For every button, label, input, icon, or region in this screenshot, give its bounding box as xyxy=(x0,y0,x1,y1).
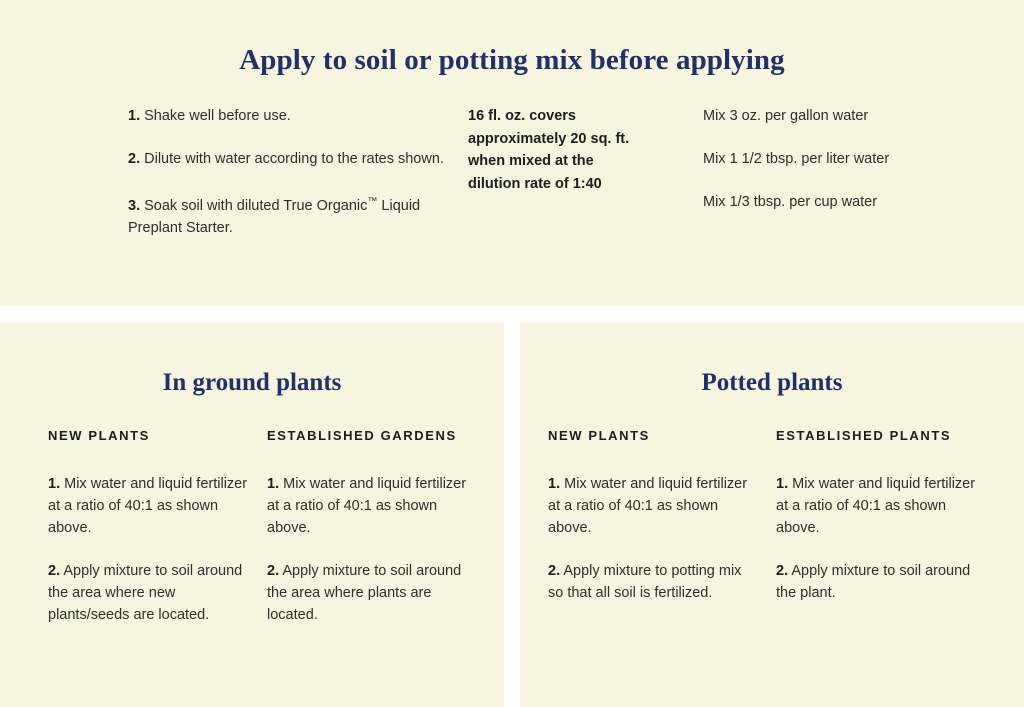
in-ground-new-plants-column: NEW PLANTS 1. Mix water and liquid ferti… xyxy=(48,428,255,626)
instruction-item: 2. Apply mixture to potting mix so that … xyxy=(548,560,760,604)
step-number: 3. xyxy=(128,198,140,214)
instruction-sheet: Apply to soil or potting mix before appl… xyxy=(0,0,1024,707)
subsection-heading: NEW PLANTS xyxy=(48,428,255,443)
instruction-text: Mix water and liquid fertilizer at a rat… xyxy=(48,476,247,536)
instruction-text: Apply mixture to soil around the area wh… xyxy=(267,563,461,623)
instruction-text: Mix water and liquid fertilizer at a rat… xyxy=(548,476,747,536)
step-item: 2. Dilute with water according to the ra… xyxy=(128,148,468,170)
top-columns: 1. Shake well before use. 2. Dilute with… xyxy=(0,105,1024,239)
in-ground-columns: NEW PLANTS 1. Mix water and liquid ferti… xyxy=(0,428,504,626)
potted-columns: NEW PLANTS 1. Mix water and liquid ferti… xyxy=(520,428,1024,604)
step-number: 1. xyxy=(128,108,140,124)
subsection-heading: ESTABLISHED GARDENS xyxy=(267,428,474,443)
steps-column: 1. Shake well before use. 2. Dilute with… xyxy=(128,105,468,239)
instruction-number: 2. xyxy=(267,563,279,579)
instruction-item: 2. Apply mixture to soil around the area… xyxy=(48,560,255,626)
mixing-rate: Mix 1/3 tbsp. per cup water xyxy=(703,191,943,213)
step-item: 1. Shake well before use. xyxy=(128,105,468,127)
step-number: 2. xyxy=(128,151,140,167)
step-item: 3. Soak soil with diluted True Organic™ … xyxy=(128,191,468,239)
application-instructions-panel: Apply to soil or potting mix before appl… xyxy=(0,0,1024,306)
instruction-text: Apply mixture to potting mix so that all… xyxy=(548,563,741,601)
instruction-number: 1. xyxy=(267,476,279,492)
instruction-item: 1. Mix water and liquid fertilizer at a … xyxy=(776,473,988,539)
trademark-symbol: ™ xyxy=(367,196,377,207)
instruction-number: 2. xyxy=(48,563,60,579)
subsection-heading: ESTABLISHED PLANTS xyxy=(776,428,988,443)
in-ground-established-gardens-column: ESTABLISHED GARDENS 1. Mix water and liq… xyxy=(267,428,474,626)
instruction-number: 1. xyxy=(48,476,60,492)
instruction-item: 1. Mix water and liquid fertilizer at a … xyxy=(548,473,760,539)
instruction-item: 1. Mix water and liquid fertilizer at a … xyxy=(267,473,474,539)
step-text: Shake well before use. xyxy=(144,108,291,124)
page-title: Apply to soil or potting mix before appl… xyxy=(0,0,1024,77)
step-text: Soak soil with diluted True Organic xyxy=(144,198,367,214)
instruction-text: Mix water and liquid fertilizer at a rat… xyxy=(267,476,466,536)
potted-new-plants-column: NEW PLANTS 1. Mix water and liquid ferti… xyxy=(548,428,760,604)
instruction-number: 2. xyxy=(776,563,788,579)
potted-plants-panel: Potted plants NEW PLANTS 1. Mix water an… xyxy=(520,322,1024,707)
instruction-text: Apply mixture to soil around the area wh… xyxy=(48,563,242,623)
subsection-heading: NEW PLANTS xyxy=(548,428,760,443)
mixing-rate: Mix 1 1/2 tbsp. per liter water xyxy=(703,148,943,170)
instruction-text: Mix water and liquid fertilizer at a rat… xyxy=(776,476,975,536)
mixing-rate: Mix 3 oz. per gallon water xyxy=(703,105,943,127)
instruction-number: 1. xyxy=(776,476,788,492)
instruction-number: 1. xyxy=(548,476,560,492)
instruction-number: 2. xyxy=(548,563,560,579)
panel-title-in-ground: In ground plants xyxy=(0,322,504,397)
step-text: Dilute with water according to the rates… xyxy=(144,151,444,167)
panel-title-potted: Potted plants xyxy=(520,322,1024,397)
coverage-statement: 16 fl. oz. covers approximately 20 sq. f… xyxy=(468,105,643,195)
instruction-item: 2. Apply mixture to soil around the plan… xyxy=(776,560,988,604)
in-ground-plants-panel: In ground plants NEW PLANTS 1. Mix water… xyxy=(0,322,504,707)
instruction-text: Apply mixture to soil around the plant. xyxy=(776,563,970,601)
mixing-rates-column: Mix 3 oz. per gallon water Mix 1 1/2 tbs… xyxy=(703,105,943,239)
potted-established-plants-column: ESTABLISHED PLANTS 1. Mix water and liqu… xyxy=(776,428,988,604)
coverage-column: 16 fl. oz. covers approximately 20 sq. f… xyxy=(468,105,643,239)
instruction-item: 2. Apply mixture to soil around the area… xyxy=(267,560,474,626)
instruction-item: 1. Mix water and liquid fertilizer at a … xyxy=(48,473,255,539)
